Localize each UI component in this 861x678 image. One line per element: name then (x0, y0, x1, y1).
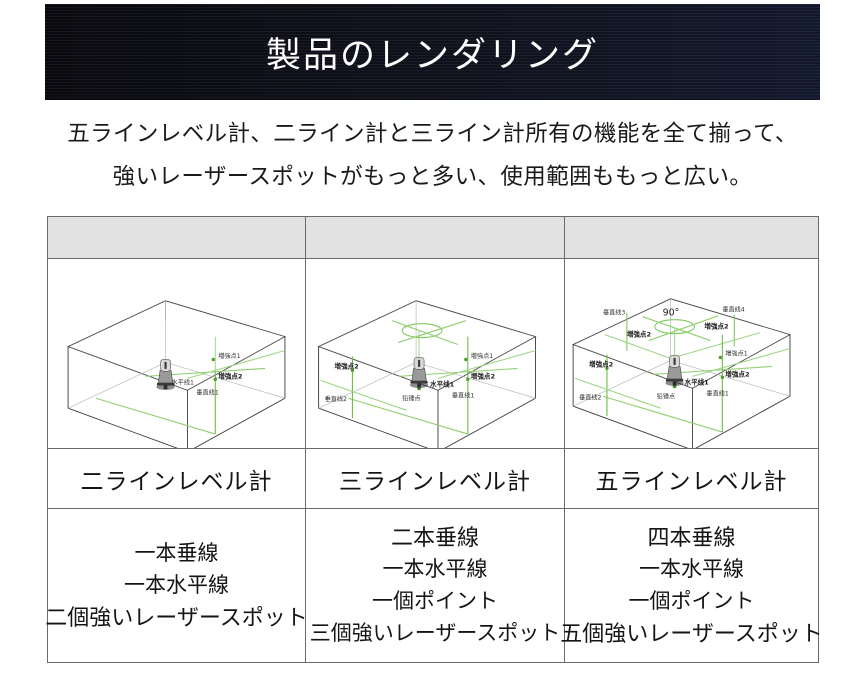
label-enhanced-point-1: 増強点1 (725, 349, 747, 357)
label-enhanced-point-2-right: 増強点2 (725, 369, 749, 378)
spec-item: 三個強いレーザースポット (310, 619, 561, 649)
product-name-three-line: 三ラインレベル計 (339, 468, 531, 494)
label-enhanced-point-2-ceiling: 増強点2 (704, 322, 728, 331)
product-name-two-line: 二ラインレベル計 (81, 468, 273, 494)
header-cell-3 (565, 217, 819, 259)
enhanced-point-1-marker (464, 358, 467, 361)
two-line-room-diagram: 増強点1 水平线1 増強点2 垂直线1 (48, 259, 305, 448)
spec-item: 一本水平線 (383, 555, 488, 585)
description-line-2: 強いレーザースポットがもっと多い、使用範囲ももっと広い。 (45, 155, 820, 198)
label-vertical-line-1: 垂直线1 (706, 389, 728, 397)
label-vertical-line-2: 垂直线2 (325, 395, 347, 403)
enhanced-point-1-marker (212, 358, 215, 361)
page-title: 製品のレンダリング (266, 27, 599, 78)
spec-item: 四本垂線 (647, 523, 735, 553)
enhanced-point-2-marker (214, 378, 217, 381)
label-enhanced-point-2-left: 増強点2 (335, 361, 359, 370)
enhanced-point-2-marker (721, 376, 724, 379)
room-wireframe (573, 299, 790, 448)
description-block: 五ラインレベル計、二ライン計と三ライン計所有の機能を全て揃って、 強いレーザース… (45, 112, 820, 198)
spec-item: 一本水平線 (124, 571, 229, 601)
spec-item: 五個強いレーザースポット (560, 619, 822, 649)
label-enhanced-point-1: 増強点1 (471, 352, 493, 360)
laser-lines (321, 321, 536, 434)
enhanced-point-1-marker (719, 356, 722, 359)
label-vertical-line-1: 垂直线1 (452, 391, 474, 399)
product-name-cell-1: 二ラインレベル計 (48, 449, 306, 509)
diagram-cell-three-line: 増強点2 垂直线2 増強点1 水平线1 増強点2 铅锤点 垂直线1 (306, 259, 565, 449)
spec-cell-two-line: 一本垂線 一本水平線 二個強いレーザースポット (48, 509, 306, 663)
description-line-1: 五ラインレベル計、二ライン計と三ライン計所有の機能を全て揃って、 (45, 112, 820, 155)
label-vertical-line-4: 垂直线4 (722, 306, 744, 314)
label-vertical-line-3: 垂直线3 (603, 309, 625, 317)
label-horizontal-line-1: 水平线1 (685, 377, 710, 386)
spec-cell-five-line: 四本垂線 一本水平線 一個ポイント 五個強いレーザースポット (565, 509, 819, 663)
product-rendering-page: 製品のレンダリング 五ラインレベル計、二ライン計と三ライン計所有の機能を全て揃っ… (0, 0, 861, 678)
label-ninety-degrees: 90° (663, 308, 680, 319)
label-horizontal-line-1: 水平线1 (172, 378, 194, 386)
comparison-table: 増強点1 水平线1 増強点2 垂直线1 (47, 216, 819, 663)
spec-item: 一個ポイント (629, 587, 755, 617)
five-line-room-diagram: 垂直线3 90° 垂直线4 増強点2 増強点2 増強点2 垂直线2 増強点1 水… (565, 259, 818, 448)
label-plumb-point: 铅锤点 (657, 392, 675, 400)
label-plumb-point: 铅锤点 (402, 394, 420, 402)
label-enhanced-point-2-right: 増強点2 (471, 371, 495, 380)
spec-list-2: 二本垂線 一本水平線 一個ポイント 三個強いレーザースポット (308, 515, 562, 656)
product-name-cell-3: 五ラインレベル計 (565, 449, 819, 509)
product-name-cell-2: 三ラインレベル計 (306, 449, 565, 509)
enhanced-point-2-marker (466, 378, 469, 381)
product-name-five-line: 五ラインレベル計 (596, 468, 788, 494)
spec-item: 一本垂線 (135, 539, 219, 569)
label-enhanced-point-2-left: 増強点2 (589, 359, 613, 368)
table-diagram-row: 増強点1 水平线1 増強点2 垂直线1 (48, 259, 819, 449)
label-enhanced-point-1: 増強点1 (218, 352, 240, 360)
spec-list-3: 四本垂線 一本水平線 一個ポイント 五個強いレーザースポット (567, 515, 816, 656)
spec-list-1: 一本垂線 一本水平線 二個強いレーザースポット (50, 515, 303, 656)
label-vertical-line-1: 垂直线1 (196, 388, 218, 396)
label-enhanced-point-2: 増強点2 (218, 371, 242, 380)
table-header-row (48, 217, 819, 259)
header-banner: 製品のレンダリング (45, 4, 820, 100)
table-name-row: 二ラインレベル計 三ラインレベル計 五ラインレベル計 (48, 449, 819, 509)
label-enhanced-point-2-back: 増強点2 (627, 330, 651, 339)
diagram-cell-five-line: 垂直线3 90° 垂直线4 増強点2 増強点2 増強点2 垂直线2 増強点1 水… (565, 259, 819, 449)
laser-level-device (410, 357, 428, 388)
spec-item: 二本垂線 (391, 523, 479, 553)
spec-item: 一個ポイント (372, 587, 498, 617)
table-spec-row: 一本垂線 一本水平線 二個強いレーザースポット 二本垂線 一本水平線 一個ポイン… (48, 509, 819, 663)
three-line-room-diagram: 増強点2 垂直线2 増強点1 水平线1 増強点2 铅锤点 垂直线1 (306, 259, 564, 448)
label-horizontal-line-1: 水平线1 (430, 379, 455, 388)
spec-item: 二個強いレーザースポット (45, 603, 307, 633)
header-cell-2 (306, 217, 565, 259)
spec-cell-three-line: 二本垂線 一本水平線 一個ポイント 三個強いレーザースポット (306, 509, 565, 663)
header-cell-1 (48, 217, 306, 259)
label-vertical-line-2: 垂直线2 (579, 393, 601, 401)
diagram-cell-two-line: 増強点1 水平线1 増強点2 垂直线1 (48, 259, 306, 449)
laser-level-device (665, 355, 683, 386)
spec-item: 一本水平線 (639, 555, 744, 585)
